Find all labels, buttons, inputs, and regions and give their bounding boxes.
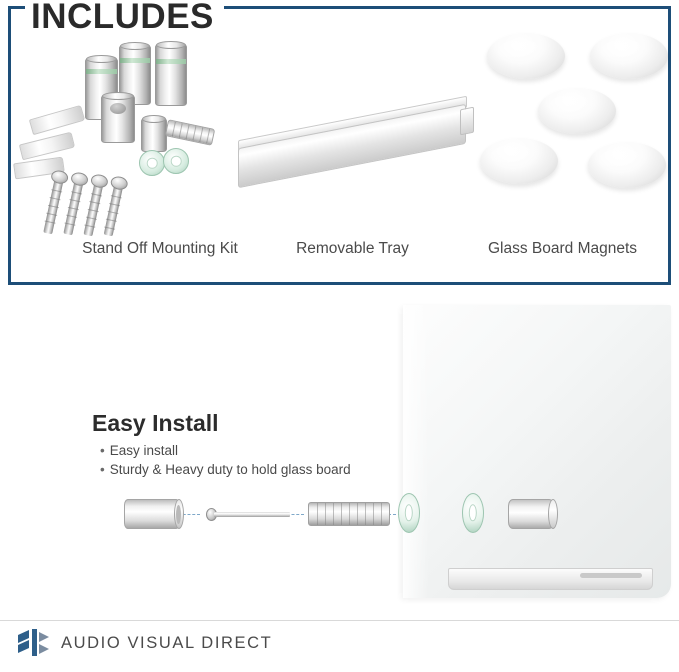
easy-install-bullet-text: Easy install (110, 443, 178, 458)
cylinder-top (156, 41, 186, 49)
footer: AUDIO VISUAL DIRECT (18, 628, 272, 658)
standoff-sleeve-part (124, 499, 180, 529)
glass-washer-front-part (398, 493, 420, 533)
cap-end (548, 499, 558, 529)
easy-install-bullet-text: Sturdy & Heavy duty to hold glass board (110, 462, 351, 477)
cylinder-band (120, 58, 150, 63)
wall-anchor (19, 132, 75, 161)
easy-install-heading: Easy Install (92, 410, 219, 437)
wall-anchor (29, 105, 85, 135)
cylinder-top (86, 55, 117, 63)
sleeve-bore (176, 505, 181, 524)
cylinder-band (86, 69, 117, 74)
mounting-screw-part (206, 510, 290, 519)
mounting-screw (63, 180, 83, 236)
screw-head (110, 175, 129, 191)
bullet-marker: • (100, 462, 105, 477)
glass-board-image (403, 305, 671, 598)
screw-shank (214, 512, 290, 517)
caption-removable-tray: Removable Tray (245, 240, 460, 258)
magnet (538, 88, 616, 134)
standoff-cylinder (155, 44, 187, 106)
mounting-screw (43, 178, 63, 235)
magnet (480, 138, 558, 184)
cylinder-top (102, 92, 134, 100)
tray-body (238, 104, 466, 188)
audio-visual-direct-logo-icon (18, 628, 52, 658)
mounting-screw (83, 182, 103, 237)
glass-washer (139, 150, 165, 176)
mounting-screw (104, 184, 124, 237)
screw-head (50, 169, 69, 185)
exploded-assembly-diagram (110, 485, 550, 545)
easy-install-bullet: •Easy install (100, 443, 178, 458)
magnet (487, 33, 565, 79)
magnet (588, 142, 666, 188)
removable-tray-image (238, 104, 470, 190)
cylinder-top (142, 115, 166, 123)
footer-divider (0, 620, 679, 621)
bullet-marker: • (100, 443, 105, 458)
threaded-bolt (165, 119, 215, 146)
screw-head (90, 173, 109, 189)
glass-washer-back-part (462, 493, 484, 533)
board-mounted-tray (448, 568, 653, 590)
screw-head (70, 171, 89, 187)
glass-washer (163, 148, 189, 174)
footer-brand-name: AUDIO VISUAL DIRECT (61, 634, 272, 653)
magnet (590, 33, 668, 79)
easy-install-bullet: •Sturdy & Heavy duty to hold glass board (100, 462, 351, 477)
caption-glass-board-magnets: Glass Board Magnets (455, 240, 670, 258)
cylinder-top (120, 42, 150, 50)
glass-board-magnets-image (470, 20, 670, 220)
cylinder-band (156, 59, 186, 64)
threaded-bolt-part (308, 502, 390, 526)
cylinder-bore (110, 103, 126, 114)
stand-off-mounting-kit-image (0, 0, 230, 235)
standoff-cap-part (508, 499, 554, 529)
standoff-cylinder (141, 118, 167, 152)
